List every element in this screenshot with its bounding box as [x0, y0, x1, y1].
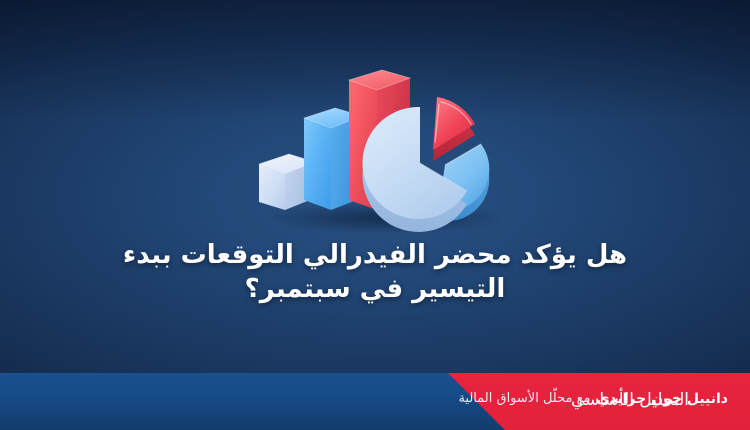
analyst-name: دانييل جون جرايدي	[596, 391, 728, 407]
footer-byline: دانييل جون جرايدي مع محلّل الأسواق المال…	[458, 373, 728, 430]
headline-line-1: هل يؤكد محضر الفيدرالي التوقعات ببدء	[60, 238, 690, 272]
headline-line-2: التيسير في سبتمبر؟	[60, 272, 690, 306]
chart-illustration	[245, 58, 520, 233]
byline-prefix: مع محلّل الأسواق المالية	[458, 391, 590, 406]
slide-canvas: هل يؤكد محضر الفيدرالي التوقعات ببدء الت…	[0, 0, 750, 430]
footer-bar: التحليل الأساسي دانييل جون جرايدي مع محل…	[0, 373, 750, 430]
headline: هل يؤكد محضر الفيدرالي التوقعات ببدء الت…	[60, 238, 690, 307]
